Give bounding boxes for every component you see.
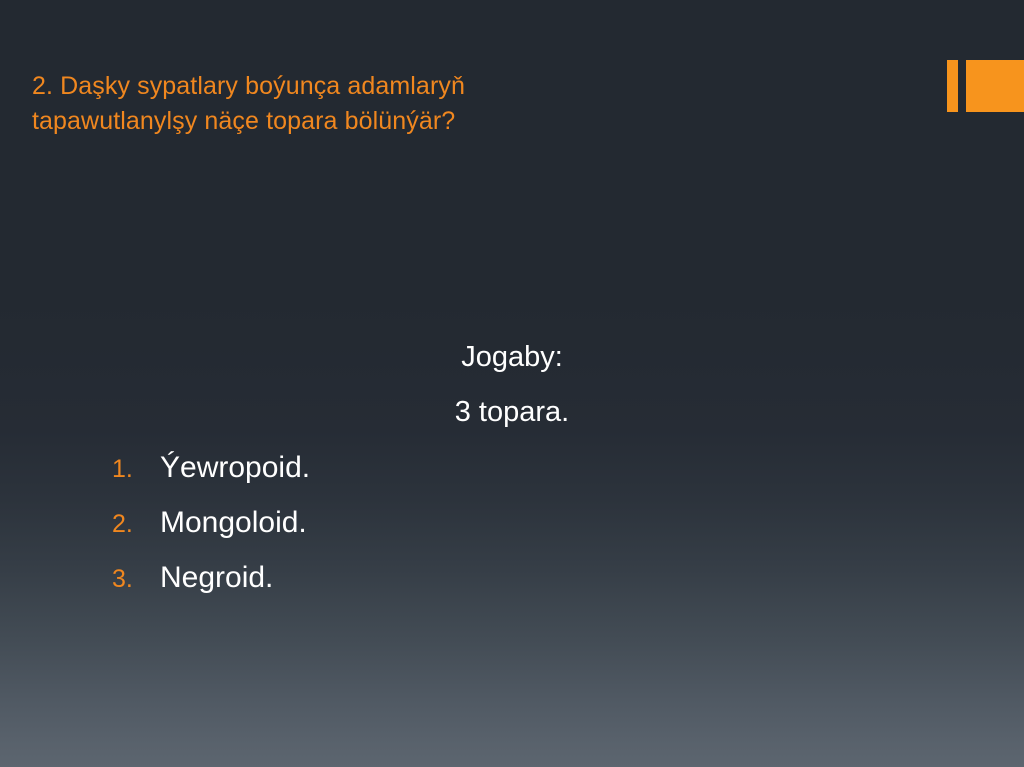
list-item-number: 1. [112, 442, 160, 497]
slide-canvas: 2. Daşky sypatlary boýunça adamlaryň tap… [0, 0, 1024, 767]
list-item: 1.Ýewropoid. [112, 440, 310, 495]
slide-title: 2. Daşky sypatlary boýunça adamlaryň tap… [32, 69, 682, 140]
slide-title-line-1: 2. Daşky sypatlary boýunça adamlaryň [32, 69, 682, 105]
list-item-label: Mongoloid. [160, 495, 307, 550]
answer-block: Jogaby: 3 topara. [112, 330, 912, 440]
list-item-number: 3. [112, 552, 160, 607]
list-item-number: 2. [112, 497, 160, 552]
list-item: 3.Negroid. [112, 550, 310, 605]
list-item-label: Negroid. [160, 550, 273, 605]
answer-list: 1.Ýewropoid. 2.Mongoloid. 3.Negroid. [112, 440, 310, 605]
list-item: 2.Mongoloid. [112, 495, 310, 550]
slide-title-line-2: tapawutlanylşy näçe topara bölünýär? [32, 104, 682, 140]
decoration-bar-wide-icon [966, 60, 1024, 112]
answer-label: Jogaby: [112, 330, 912, 385]
answer-value: 3 topara. [112, 385, 912, 440]
list-item-label: Ýewropoid. [160, 440, 310, 495]
decoration-bar-thin-icon [947, 60, 958, 112]
